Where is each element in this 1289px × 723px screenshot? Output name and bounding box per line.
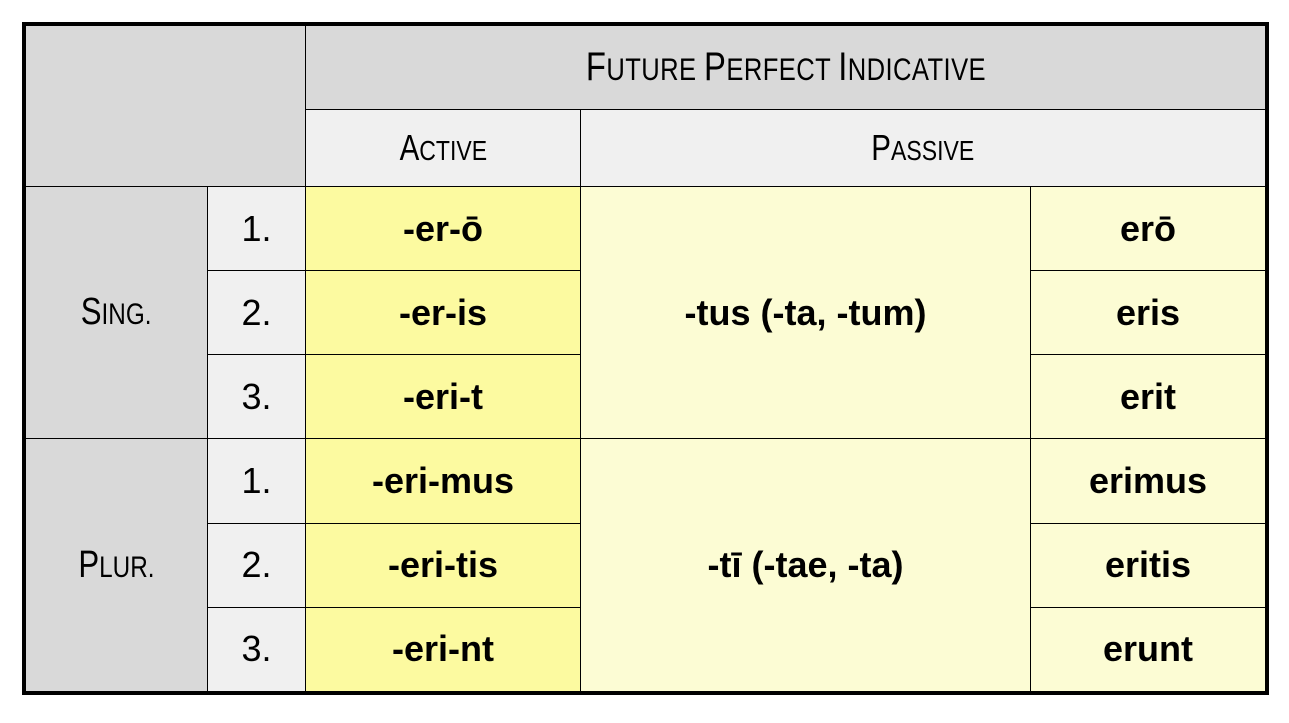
auxiliary-form: eritis bbox=[1031, 523, 1266, 607]
group-label-plur-text: Plur. bbox=[78, 544, 154, 587]
active-form: -eri-t bbox=[306, 355, 581, 439]
tense-title-cell: Future Perfect Indicative bbox=[306, 26, 1266, 110]
group-label-sing-text: Sing. bbox=[81, 291, 152, 334]
participle-form: -tus (-ta, -tum) bbox=[581, 187, 1031, 439]
active-form: -eri-mus bbox=[306, 439, 581, 523]
table-row: Sing. 1. -er-ō -tus (-ta, -tum) erō bbox=[26, 187, 1266, 271]
group-label-plur: Plur. bbox=[26, 439, 208, 692]
auxiliary-form: eris bbox=[1031, 271, 1266, 355]
participle-form: -tī (-tae, -ta) bbox=[581, 439, 1031, 692]
person-number: 1. bbox=[208, 439, 306, 523]
person-number: 3. bbox=[208, 607, 306, 691]
active-form: -er-ō bbox=[306, 187, 581, 271]
auxiliary-form: erunt bbox=[1031, 607, 1266, 691]
person-number: 3. bbox=[208, 355, 306, 439]
voice-passive-text: Passive bbox=[872, 127, 975, 169]
conjugation-table: Future Perfect Indicative Active Passive… bbox=[25, 25, 1266, 692]
table-corner-cell bbox=[26, 26, 306, 187]
auxiliary-form: erō bbox=[1031, 187, 1266, 271]
tense-title-text: Future Perfect Indicative bbox=[585, 45, 985, 90]
auxiliary-form: erit bbox=[1031, 355, 1266, 439]
voice-active-text: Active bbox=[399, 127, 487, 169]
header-row-tense: Future Perfect Indicative bbox=[26, 26, 1266, 110]
active-form: -eri-nt bbox=[306, 607, 581, 691]
voice-active-cell: Active bbox=[306, 110, 581, 187]
active-form: -er-is bbox=[306, 271, 581, 355]
voice-passive-cell: Passive bbox=[581, 110, 1266, 187]
person-number: 1. bbox=[208, 187, 306, 271]
person-number: 2. bbox=[208, 523, 306, 607]
active-form: -eri-tis bbox=[306, 523, 581, 607]
person-number: 2. bbox=[208, 271, 306, 355]
table-row: Plur. 1. -eri-mus -tī (-tae, -ta) erimus bbox=[26, 439, 1266, 523]
auxiliary-form: erimus bbox=[1031, 439, 1266, 523]
group-label-sing: Sing. bbox=[26, 187, 208, 439]
